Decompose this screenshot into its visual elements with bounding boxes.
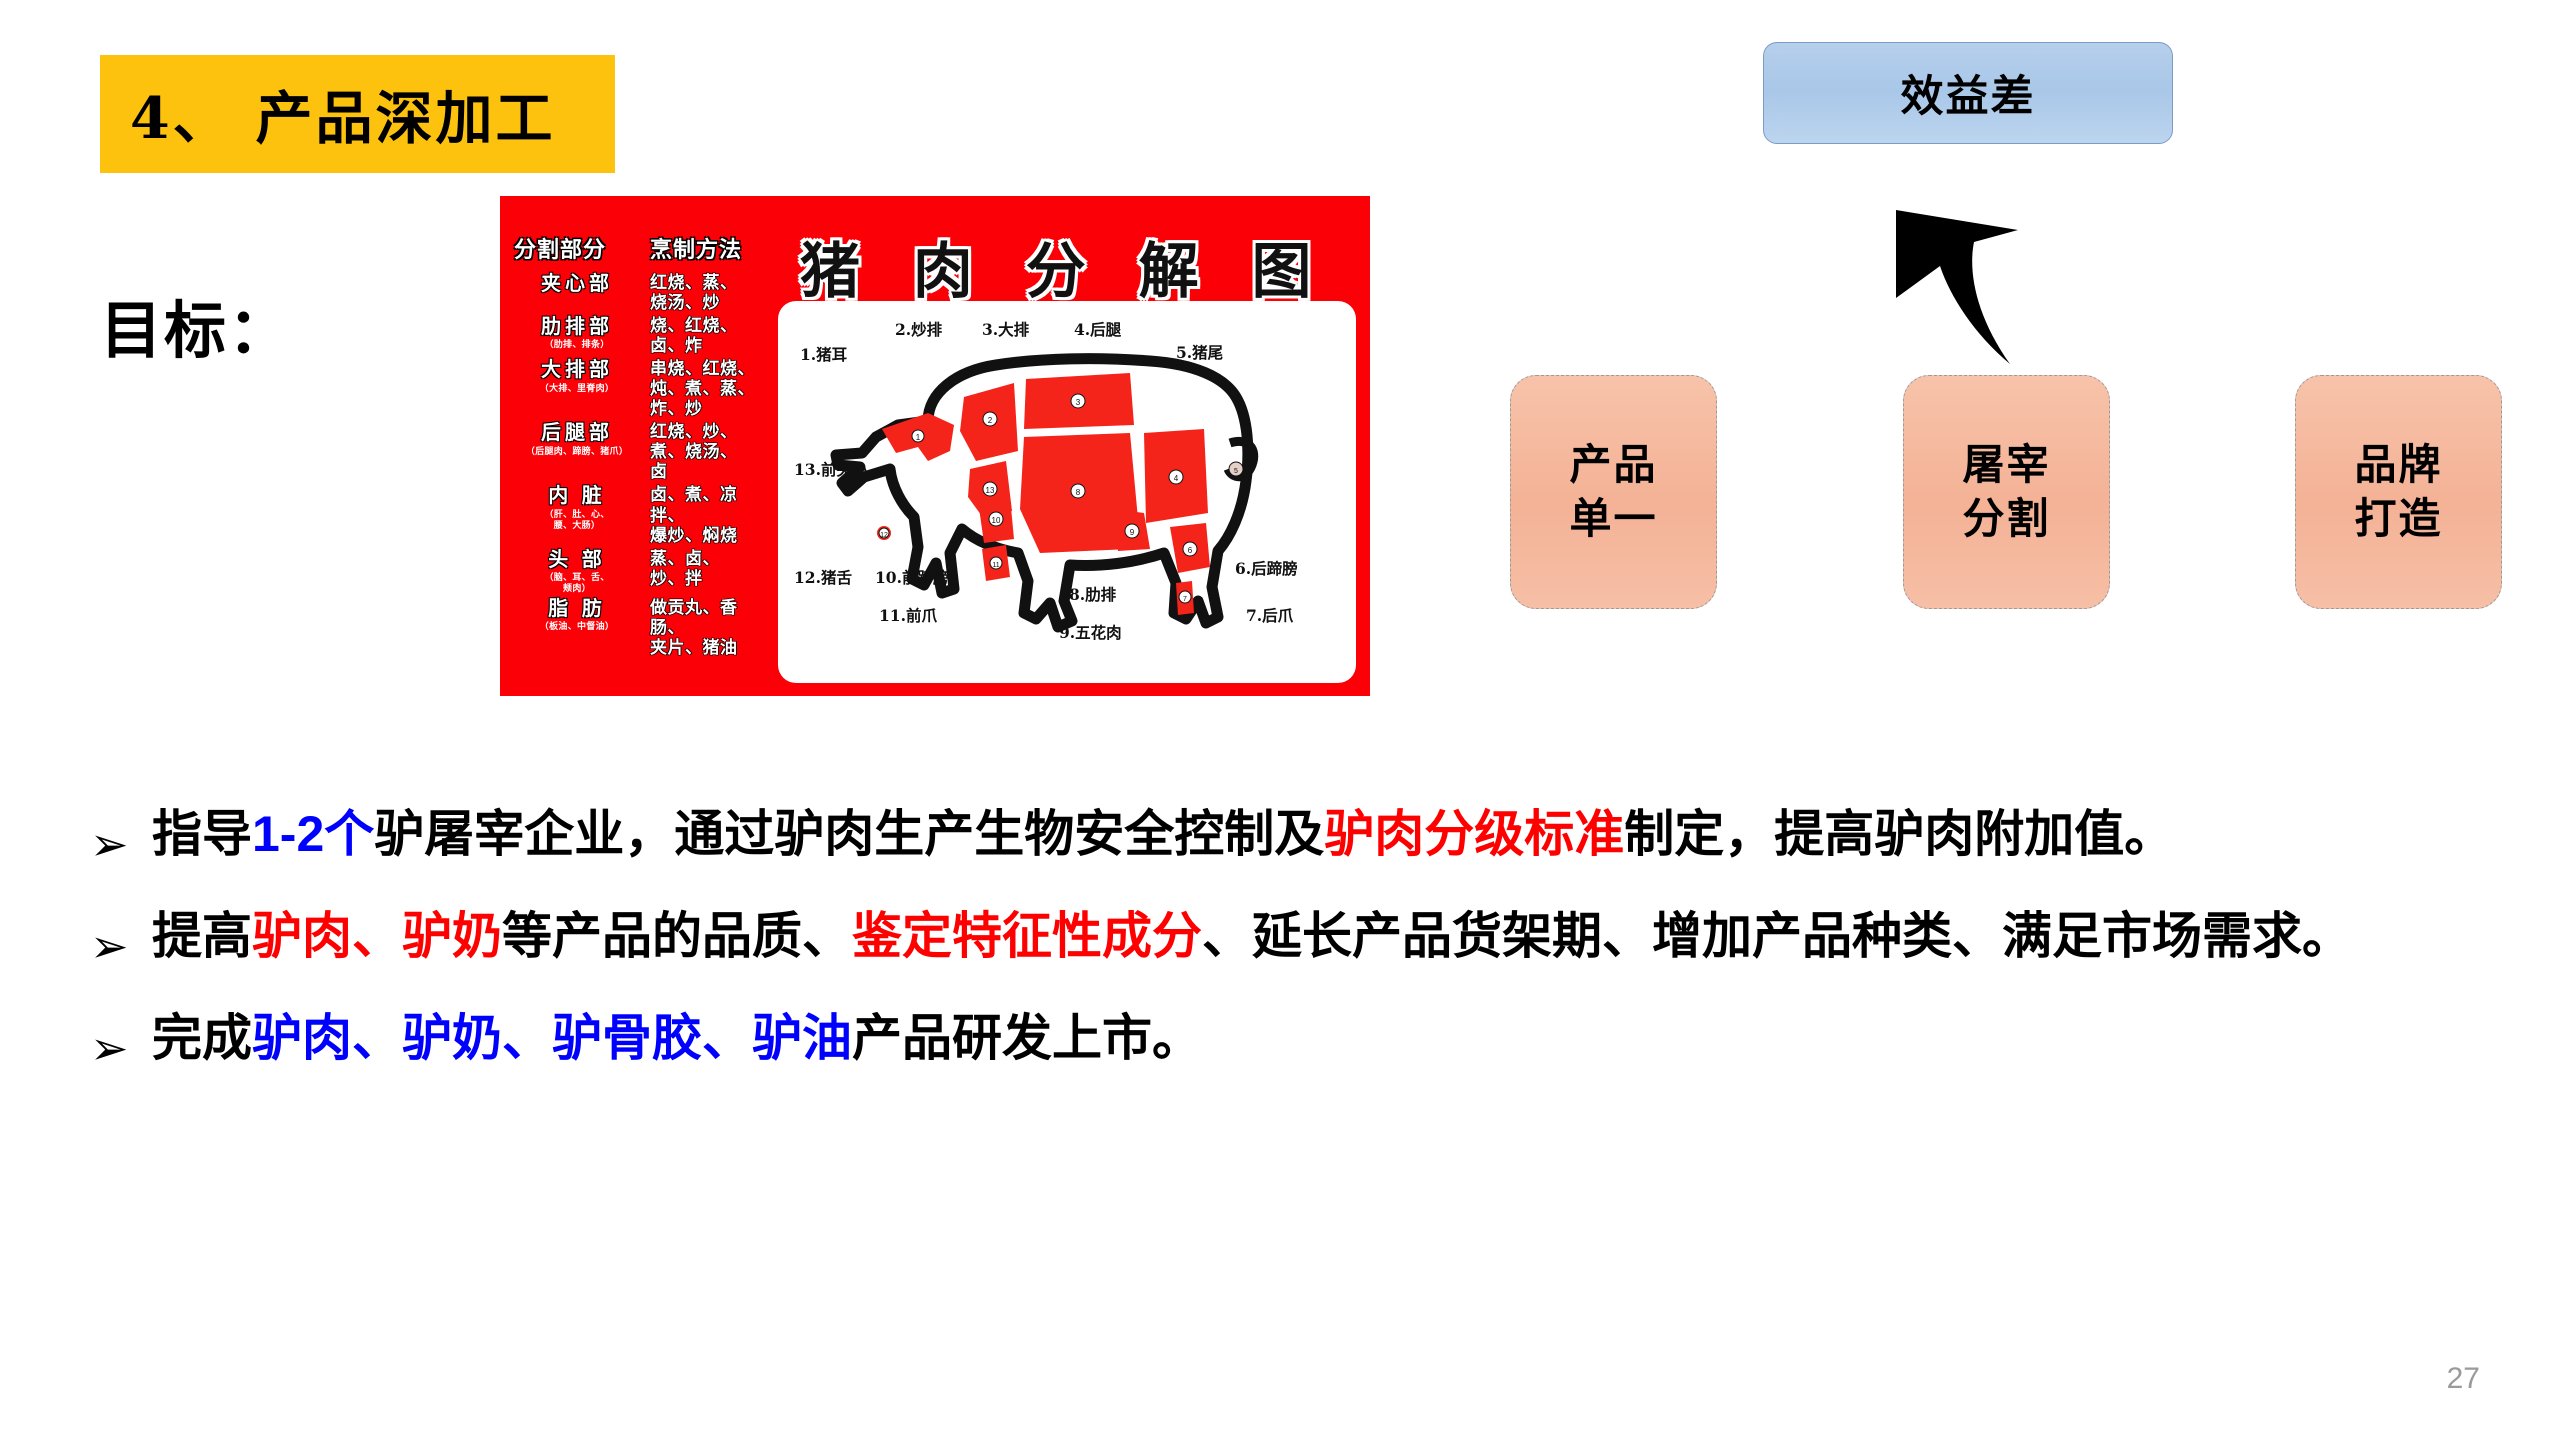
bullet-text: 提高驴肉、驴奶等产品的品质、鉴定特征性成分、延长产品货架期、增加产品种类、满足市… [152, 902, 2500, 971]
svg-text:5: 5 [1234, 468, 1238, 475]
bullet-arrow-icon: ➢ [90, 800, 152, 888]
cut-subparts: （脑、耳、舌、颊肉） [514, 572, 640, 595]
cut-name: 肋排部 [514, 316, 640, 338]
cooking-method-cell: 烧、红烧、卤、炸 [650, 316, 766, 356]
cut-cell: 肋排部（肋排、排条） [514, 316, 640, 351]
process-box-line2: 分割 [1962, 492, 2050, 546]
poster-title: 猪 肉 分 解 图 [800, 223, 1328, 310]
cut-cell: 夹心部 [514, 273, 640, 295]
svg-text:6: 6 [1188, 546, 1193, 555]
cut-subparts: （大排、里脊肉） [514, 383, 640, 394]
bullet-text: 指导1-2个驴屠宰企业，通过驴肉生产生物安全控制及驴肉分级标准制定，提高驴肉附加… [152, 800, 2500, 869]
pig-part-label-12: 12.猪舌 [794, 566, 852, 588]
pig-part-label-9: 9.五花肉 [1059, 621, 1122, 643]
cut-name: 内 脏 [514, 485, 640, 507]
cooking-method-cell: 红烧、蒸、烧汤、炒 [650, 273, 766, 313]
cooking-method-cell: 做贡丸、香肠、夹片、猪油 [650, 598, 766, 658]
list-item: ➢完成驴肉、驴奶、驴骨胶、驴油产品研发上市。 [90, 1004, 2500, 1092]
svg-text:13: 13 [986, 486, 995, 495]
bullet-text-run-red: 驴肉、驴奶 [252, 908, 502, 964]
pig-part-label-6: 6.后蹄膀 [1235, 557, 1298, 579]
bullet-arrow-icon: ➢ [90, 902, 152, 990]
page-title: 4、 产品深加工 [100, 73, 556, 155]
col-header-method: 烹制方法 [650, 232, 742, 264]
pig-part-label-11: 11.前爪 [879, 604, 937, 626]
bullet-text-run-red: 驴肉分级标准 [1324, 806, 1624, 862]
svg-text:12: 12 [880, 532, 888, 539]
pig-part-label-4: 4.后腿 [1074, 318, 1121, 340]
pig-part-label-3: 3.大排 [982, 318, 1029, 340]
table-row: 后腿部（后腿肉、蹄膀、猪爪）红烧、炒、煮、烧汤、卤 [514, 422, 766, 482]
pig-part-label-8: 8.肋排 [1069, 583, 1116, 605]
cut-subparts: （肝、肚、心、腰、大肠） [514, 509, 640, 532]
process-box-line1: 品牌 [2354, 438, 2442, 492]
cut-cell: 脂 肪（板油、中督油） [514, 598, 640, 633]
cooking-method-cell: 卤、煮、凉拌、爆炒、焖烧 [650, 485, 766, 545]
cut-subparts: （后腿肉、蹄膀、猪爪） [514, 446, 640, 457]
pig-diagram-panel: 1 2 13 3 8 4 [778, 301, 1356, 683]
process-box-brand-building[interactable]: 品牌 打造 [2295, 375, 2502, 609]
table-row: 脂 肪（板油、中督油）做贡丸、香肠、夹片、猪油 [514, 598, 766, 658]
col-header-cut: 分割部分 [514, 232, 632, 264]
pork-cut-poster: 分割部分 烹制方法 夹心部红烧、蒸、烧汤、炒肋排部（肋排、排条）烧、红烧、卤、炸… [500, 196, 1370, 696]
cut-cell: 头 部（脑、耳、舌、颊肉） [514, 549, 640, 595]
process-box-slaughter-cutting[interactable]: 屠宰 分割 [1903, 375, 2110, 609]
bullet-text-run-black: 等产品的品质、 [502, 908, 852, 964]
table-row: 内 脏（肝、肚、心、腰、大肠）卤、煮、凉拌、爆炒、焖烧 [514, 485, 766, 545]
svg-text:2: 2 [988, 416, 993, 425]
cut-name: 后腿部 [514, 422, 640, 444]
process-box-line1: 屠宰 [1962, 438, 2050, 492]
list-item: ➢指导1-2个驴屠宰企业，通过驴肉生产生物安全控制及驴肉分级标准制定，提高驴肉附… [90, 800, 2500, 888]
bullet-text-run-blue: 1-2个 [252, 806, 374, 862]
process-box-line2: 打造 [2354, 492, 2442, 546]
svg-text:10: 10 [992, 516, 1001, 525]
cooking-method-cell: 红烧、炒、煮、烧汤、卤 [650, 422, 766, 482]
svg-text:11: 11 [992, 562, 999, 569]
process-box-product-single[interactable]: 产品 单一 [1510, 375, 1717, 609]
process-box-line2: 单一 [1569, 492, 1657, 546]
pig-part-label-1: 1.猪耳 [800, 343, 847, 365]
bullet-text-run-black: 、延长产品货架期、增加产品种类、满足市场需求。 [1202, 908, 2352, 964]
pig-part-label-13: 13.前夹心 [794, 458, 867, 480]
section-title-banner: 4、 产品深加工 [100, 55, 615, 173]
list-item: ➢提高驴肉、驴奶等产品的品质、鉴定特征性成分、延长产品货架期、增加产品种类、满足… [90, 902, 2500, 990]
curved-arrow-up-left-icon [1878, 188, 2118, 378]
cut-subparts: （肋排、排条） [514, 339, 640, 350]
goal-label: 目标： [100, 280, 292, 370]
slide-canvas: 4、 产品深加工 目标： 分割部分 烹制方法 夹心部红烧、蒸、烧汤、炒肋排部（肋… [0, 0, 2560, 1440]
cut-name: 头 部 [514, 549, 640, 571]
cut-name: 大排部 [514, 359, 640, 381]
cooking-method-cell: 蒸、卤、炒、拌 [650, 549, 766, 589]
table-row: 头 部（脑、耳、舌、颊肉）蒸、卤、炒、拌 [514, 549, 766, 595]
table-row: 肋排部（肋排、排条）烧、红烧、卤、炸 [514, 316, 766, 356]
cut-subparts: （板油、中督油） [514, 621, 640, 632]
bullet-text-run-black: 完成 [152, 1010, 252, 1066]
cut-cell: 内 脏（肝、肚、心、腰、大肠） [514, 485, 640, 531]
process-box-line1: 产品 [1569, 438, 1657, 492]
outcome-box-poor-benefit[interactable]: 效益差 [1763, 42, 2173, 144]
bullet-text-run-red: 鉴定特征性成分 [852, 908, 1202, 964]
bullet-text-run-black: 产品研发上市。 [852, 1010, 1202, 1066]
bullet-arrow-icon: ➢ [90, 1004, 152, 1092]
bullet-text-run-black: 提高 [152, 908, 252, 964]
svg-text:8: 8 [1076, 488, 1081, 497]
cooking-method-cell: 串烧、红烧、炖、煮、蒸、炸、炒 [650, 359, 766, 419]
bullet-text-run-blue: 驴肉、驴奶、驴骨胶、驴油 [252, 1010, 852, 1066]
svg-text:3: 3 [1076, 398, 1081, 407]
svg-text:1: 1 [916, 433, 921, 442]
svg-text:4: 4 [1174, 474, 1179, 483]
page-number: 27 [2447, 1362, 2480, 1396]
outcome-box-label: 效益差 [1901, 62, 2036, 124]
pig-part-label-2: 2.炒排 [895, 318, 942, 340]
goal-bullet-list: ➢指导1-2个驴屠宰企业，通过驴肉生产生物安全控制及驴肉分级标准制定，提高驴肉附… [90, 800, 2500, 1106]
bullet-text-run-black: 指导 [152, 806, 252, 862]
cut-cell: 大排部（大排、里脊肉） [514, 359, 640, 394]
bullet-text: 完成驴肉、驴奶、驴骨胶、驴油产品研发上市。 [152, 1004, 2500, 1073]
pork-cut-table: 分割部分 烹制方法 夹心部红烧、蒸、烧汤、炒肋排部（肋排、排条）烧、红烧、卤、炸… [514, 232, 766, 661]
cut-name: 脂 肪 [514, 598, 640, 620]
table-row: 夹心部红烧、蒸、烧汤、炒 [514, 273, 766, 313]
cut-name: 夹心部 [514, 273, 640, 295]
pig-part-label-7: 7.后爪 [1246, 604, 1293, 626]
svg-text:7: 7 [1183, 596, 1187, 603]
bullet-text-run-black: 制定，提高驴肉附加值。 [1624, 806, 2174, 862]
table-header-row: 分割部分 烹制方法 [514, 232, 766, 264]
svg-text:9: 9 [1130, 528, 1135, 537]
pig-part-label-5: 5.猪尾 [1176, 341, 1223, 363]
table-row: 大排部（大排、里脊肉）串烧、红烧、炖、煮、蒸、炸、炒 [514, 359, 766, 419]
cut-cell: 后腿部（后腿肉、蹄膀、猪爪） [514, 422, 640, 457]
pig-part-label-10: 10.前蹄膀 [875, 566, 948, 588]
bullet-text-run-black: 驴屠宰企业，通过驴肉生产生物安全控制及 [374, 806, 1324, 862]
